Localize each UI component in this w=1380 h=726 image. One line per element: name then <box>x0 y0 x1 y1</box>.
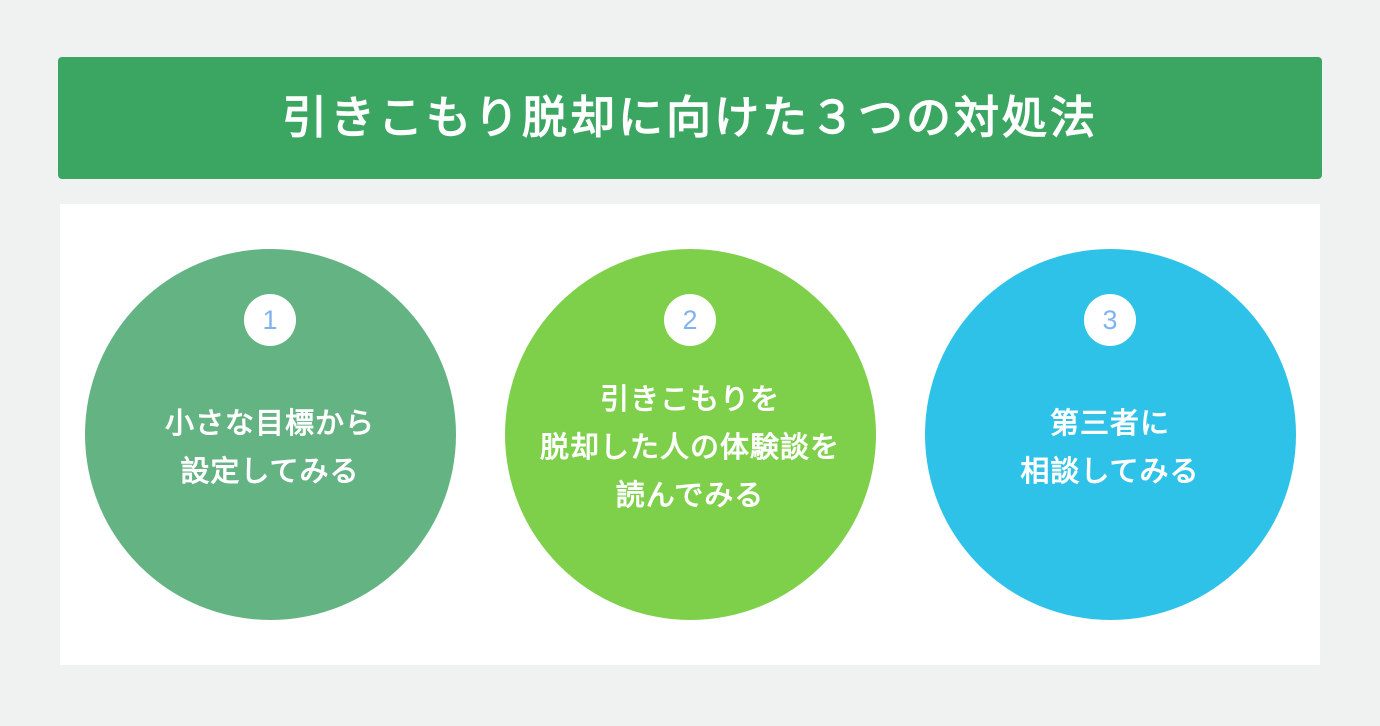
page-title: 引きこもり脱却に向けた３つの対処法 <box>282 93 1098 143</box>
step-number-badge-2: 2 <box>664 294 716 346</box>
step-number-1: 1 <box>262 307 277 334</box>
content-card: 1 小さな目標から 設定してみる 2 引きこもりを 脱却した人の体験談を 読んで… <box>60 204 1320 665</box>
header-banner: 引きこもり脱却に向けた３つの対処法 <box>58 57 1322 179</box>
step-circle-1: 1 小さな目標から 設定してみる <box>85 249 456 620</box>
step-label-2: 引きこもりを 脱却した人の体験談を 読んでみる <box>528 376 852 520</box>
infographic-page: 引きこもり脱却に向けた３つの対処法 1 小さな目標から 設定してみる 2 引きこ… <box>0 0 1380 726</box>
step-number-badge-1: 1 <box>244 294 296 346</box>
step-number-3: 3 <box>1102 307 1117 334</box>
step-number-2: 2 <box>682 307 697 334</box>
step-label-1: 小さな目標から 設定してみる <box>153 400 387 496</box>
steps-row: 1 小さな目標から 設定してみる 2 引きこもりを 脱却した人の体験談を 読んで… <box>60 204 1320 665</box>
step-number-badge-3: 3 <box>1084 294 1136 346</box>
step-label-3: 第三者に 相談してみる <box>1008 400 1211 496</box>
step-circle-2: 2 引きこもりを 脱却した人の体験談を 読んでみる <box>505 249 876 620</box>
step-circle-3: 3 第三者に 相談してみる <box>925 249 1296 620</box>
